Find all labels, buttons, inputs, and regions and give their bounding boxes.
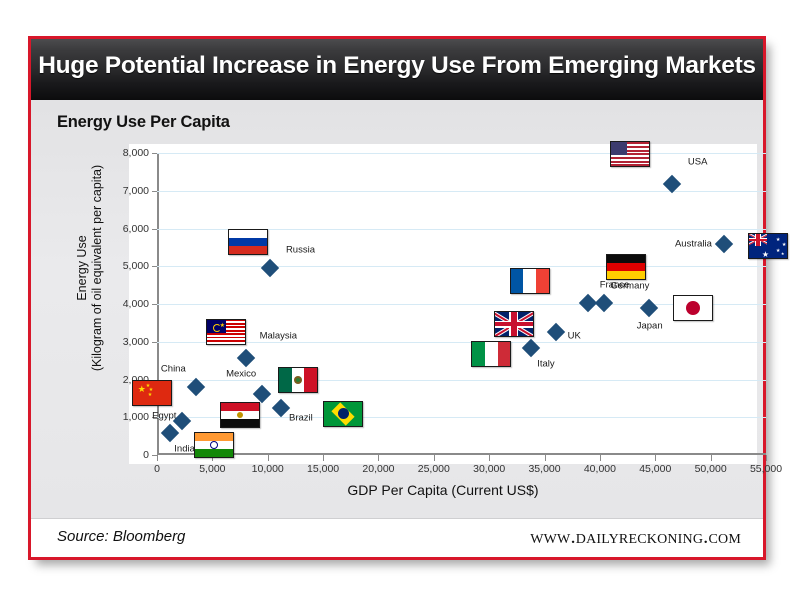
y-axis-tick xyxy=(152,304,157,305)
data-point-marker[interactable] xyxy=(639,299,657,317)
gridline xyxy=(157,153,766,154)
banner-title: Huge Potential Increase in Energy Use Fr… xyxy=(31,52,763,80)
x-axis-tick xyxy=(378,455,379,461)
flag-india-icon xyxy=(194,432,234,458)
flag-australia-icon: ★★★★★ xyxy=(748,233,788,259)
data-point-marker[interactable] xyxy=(595,294,613,312)
x-axis-line xyxy=(157,453,766,455)
title-banner: Huge Potential Increase in Energy Use Fr… xyxy=(31,39,763,100)
y-axis-tick-label: 4,000 xyxy=(123,298,149,310)
data-point-label: Australia xyxy=(675,238,712,249)
flag-usa-icon xyxy=(610,141,650,167)
data-point-label: Russia xyxy=(286,245,315,256)
data-point-label: UK xyxy=(568,331,581,342)
flag-japan-icon xyxy=(673,295,713,321)
x-axis-tick xyxy=(268,455,269,461)
y-axis-tick-label: 7,000 xyxy=(123,185,149,197)
data-point-marker[interactable] xyxy=(253,385,271,403)
x-axis-title: GDP Per Capita (Current US$) xyxy=(129,482,757,498)
x-axis-tick xyxy=(545,455,546,461)
y-axis-tick-label: 8,000 xyxy=(123,147,149,159)
flag-china-icon: ★★★★ xyxy=(132,380,172,406)
flag-germany-icon xyxy=(606,254,646,280)
data-point-label: Mexico xyxy=(226,368,256,379)
data-point-marker[interactable] xyxy=(236,348,254,366)
data-point-marker[interactable] xyxy=(261,259,279,277)
plot-area: 01,0002,0003,0004,0005,0006,0007,0008,00… xyxy=(157,153,766,455)
y-axis-tick-label: 3,000 xyxy=(123,336,149,348)
y-axis-tick-label: 0 xyxy=(143,449,149,461)
flag-italy-icon xyxy=(471,341,511,367)
x-axis-tick-label: 5,000 xyxy=(199,463,225,475)
x-axis-tick-label: 25,000 xyxy=(418,463,450,475)
data-point-label: Italy xyxy=(537,359,554,370)
x-axis-tick-label: 10,000 xyxy=(252,463,284,475)
flag-malaysia-icon: ★ xyxy=(206,319,246,345)
y-axis-tick xyxy=(152,229,157,230)
y-axis-tick xyxy=(152,191,157,192)
website-label[interactable]: www.dailyreckoning.com xyxy=(530,526,741,549)
data-point-marker[interactable] xyxy=(546,323,564,341)
gridline xyxy=(157,191,766,192)
y-axis-tick xyxy=(152,153,157,154)
y-axis-tick-label: 1,000 xyxy=(123,411,149,423)
x-axis-tick-label: 40,000 xyxy=(584,463,616,475)
x-axis-tick xyxy=(489,455,490,461)
chart-heading: Energy Use Per Capita xyxy=(57,113,230,132)
plot-panel: 01,0002,0003,0004,0005,0006,0007,0008,00… xyxy=(129,144,757,464)
x-axis-tick xyxy=(157,455,158,461)
x-axis-tick xyxy=(655,455,656,461)
y-axis-title-line2: (Kilogram of oil equivalent per capita) xyxy=(90,165,104,371)
x-axis-tick-label: 35,000 xyxy=(528,463,560,475)
data-point-marker[interactable] xyxy=(161,424,179,442)
x-axis-tick-label: 55,000 xyxy=(750,463,782,475)
chart-card: Huge Potential Increase in Energy Use Fr… xyxy=(28,36,766,560)
x-axis-tick xyxy=(323,455,324,461)
x-axis-tick-label: 30,000 xyxy=(473,463,505,475)
x-axis-tick-label: 0 xyxy=(154,463,160,475)
data-point-marker[interactable] xyxy=(272,399,290,417)
x-axis-tick-label: 20,000 xyxy=(362,463,394,475)
x-axis-tick-label: 45,000 xyxy=(639,463,671,475)
y-axis-title-line1: Energy Use xyxy=(75,165,89,371)
data-point-label: Malaysia xyxy=(260,330,298,341)
x-axis-tick-label: 15,000 xyxy=(307,463,339,475)
screenshot-root: Huge Potential Increase in Energy Use Fr… xyxy=(0,0,800,593)
x-axis-tick xyxy=(766,455,767,461)
data-point-marker[interactable] xyxy=(715,234,733,252)
y-axis-tick xyxy=(152,266,157,267)
data-point-label: USA xyxy=(688,157,708,168)
x-axis-tick xyxy=(600,455,601,461)
data-point-label: Brazil xyxy=(289,412,313,423)
data-point-label: Germany xyxy=(610,281,649,292)
flag-egypt-icon xyxy=(220,402,260,428)
gridline xyxy=(157,266,766,267)
data-point-marker[interactable] xyxy=(187,378,205,396)
y-axis-tick xyxy=(152,342,157,343)
x-axis-tick-label: 50,000 xyxy=(695,463,727,475)
flag-russia-icon xyxy=(228,229,268,255)
x-axis-tick xyxy=(711,455,712,461)
flag-uk-icon xyxy=(494,311,534,337)
footer-bar: Source: Bloomberg www.dailyreckoning.com xyxy=(31,518,763,557)
data-point-label: India xyxy=(174,444,195,455)
data-point-label: Japan xyxy=(637,320,663,331)
flag-brazil-icon xyxy=(323,401,363,427)
data-point-label: Egypt xyxy=(152,411,176,422)
y-axis-tick-label: 5,000 xyxy=(123,260,149,272)
gridline xyxy=(157,342,766,343)
flag-mexico-icon xyxy=(278,367,318,393)
gridline xyxy=(157,380,766,381)
chart-body: Energy Use Per Capita Energy Use (Kilogr… xyxy=(31,100,763,524)
source-label: Source: Bloomberg xyxy=(57,528,185,545)
y-axis-tick-label: 6,000 xyxy=(123,223,149,235)
y-axis-title: Energy Use (Kilogram of oil equivalent p… xyxy=(75,165,104,371)
flag-france-icon xyxy=(510,268,550,294)
data-point-label: China xyxy=(161,364,186,375)
x-axis-tick xyxy=(434,455,435,461)
